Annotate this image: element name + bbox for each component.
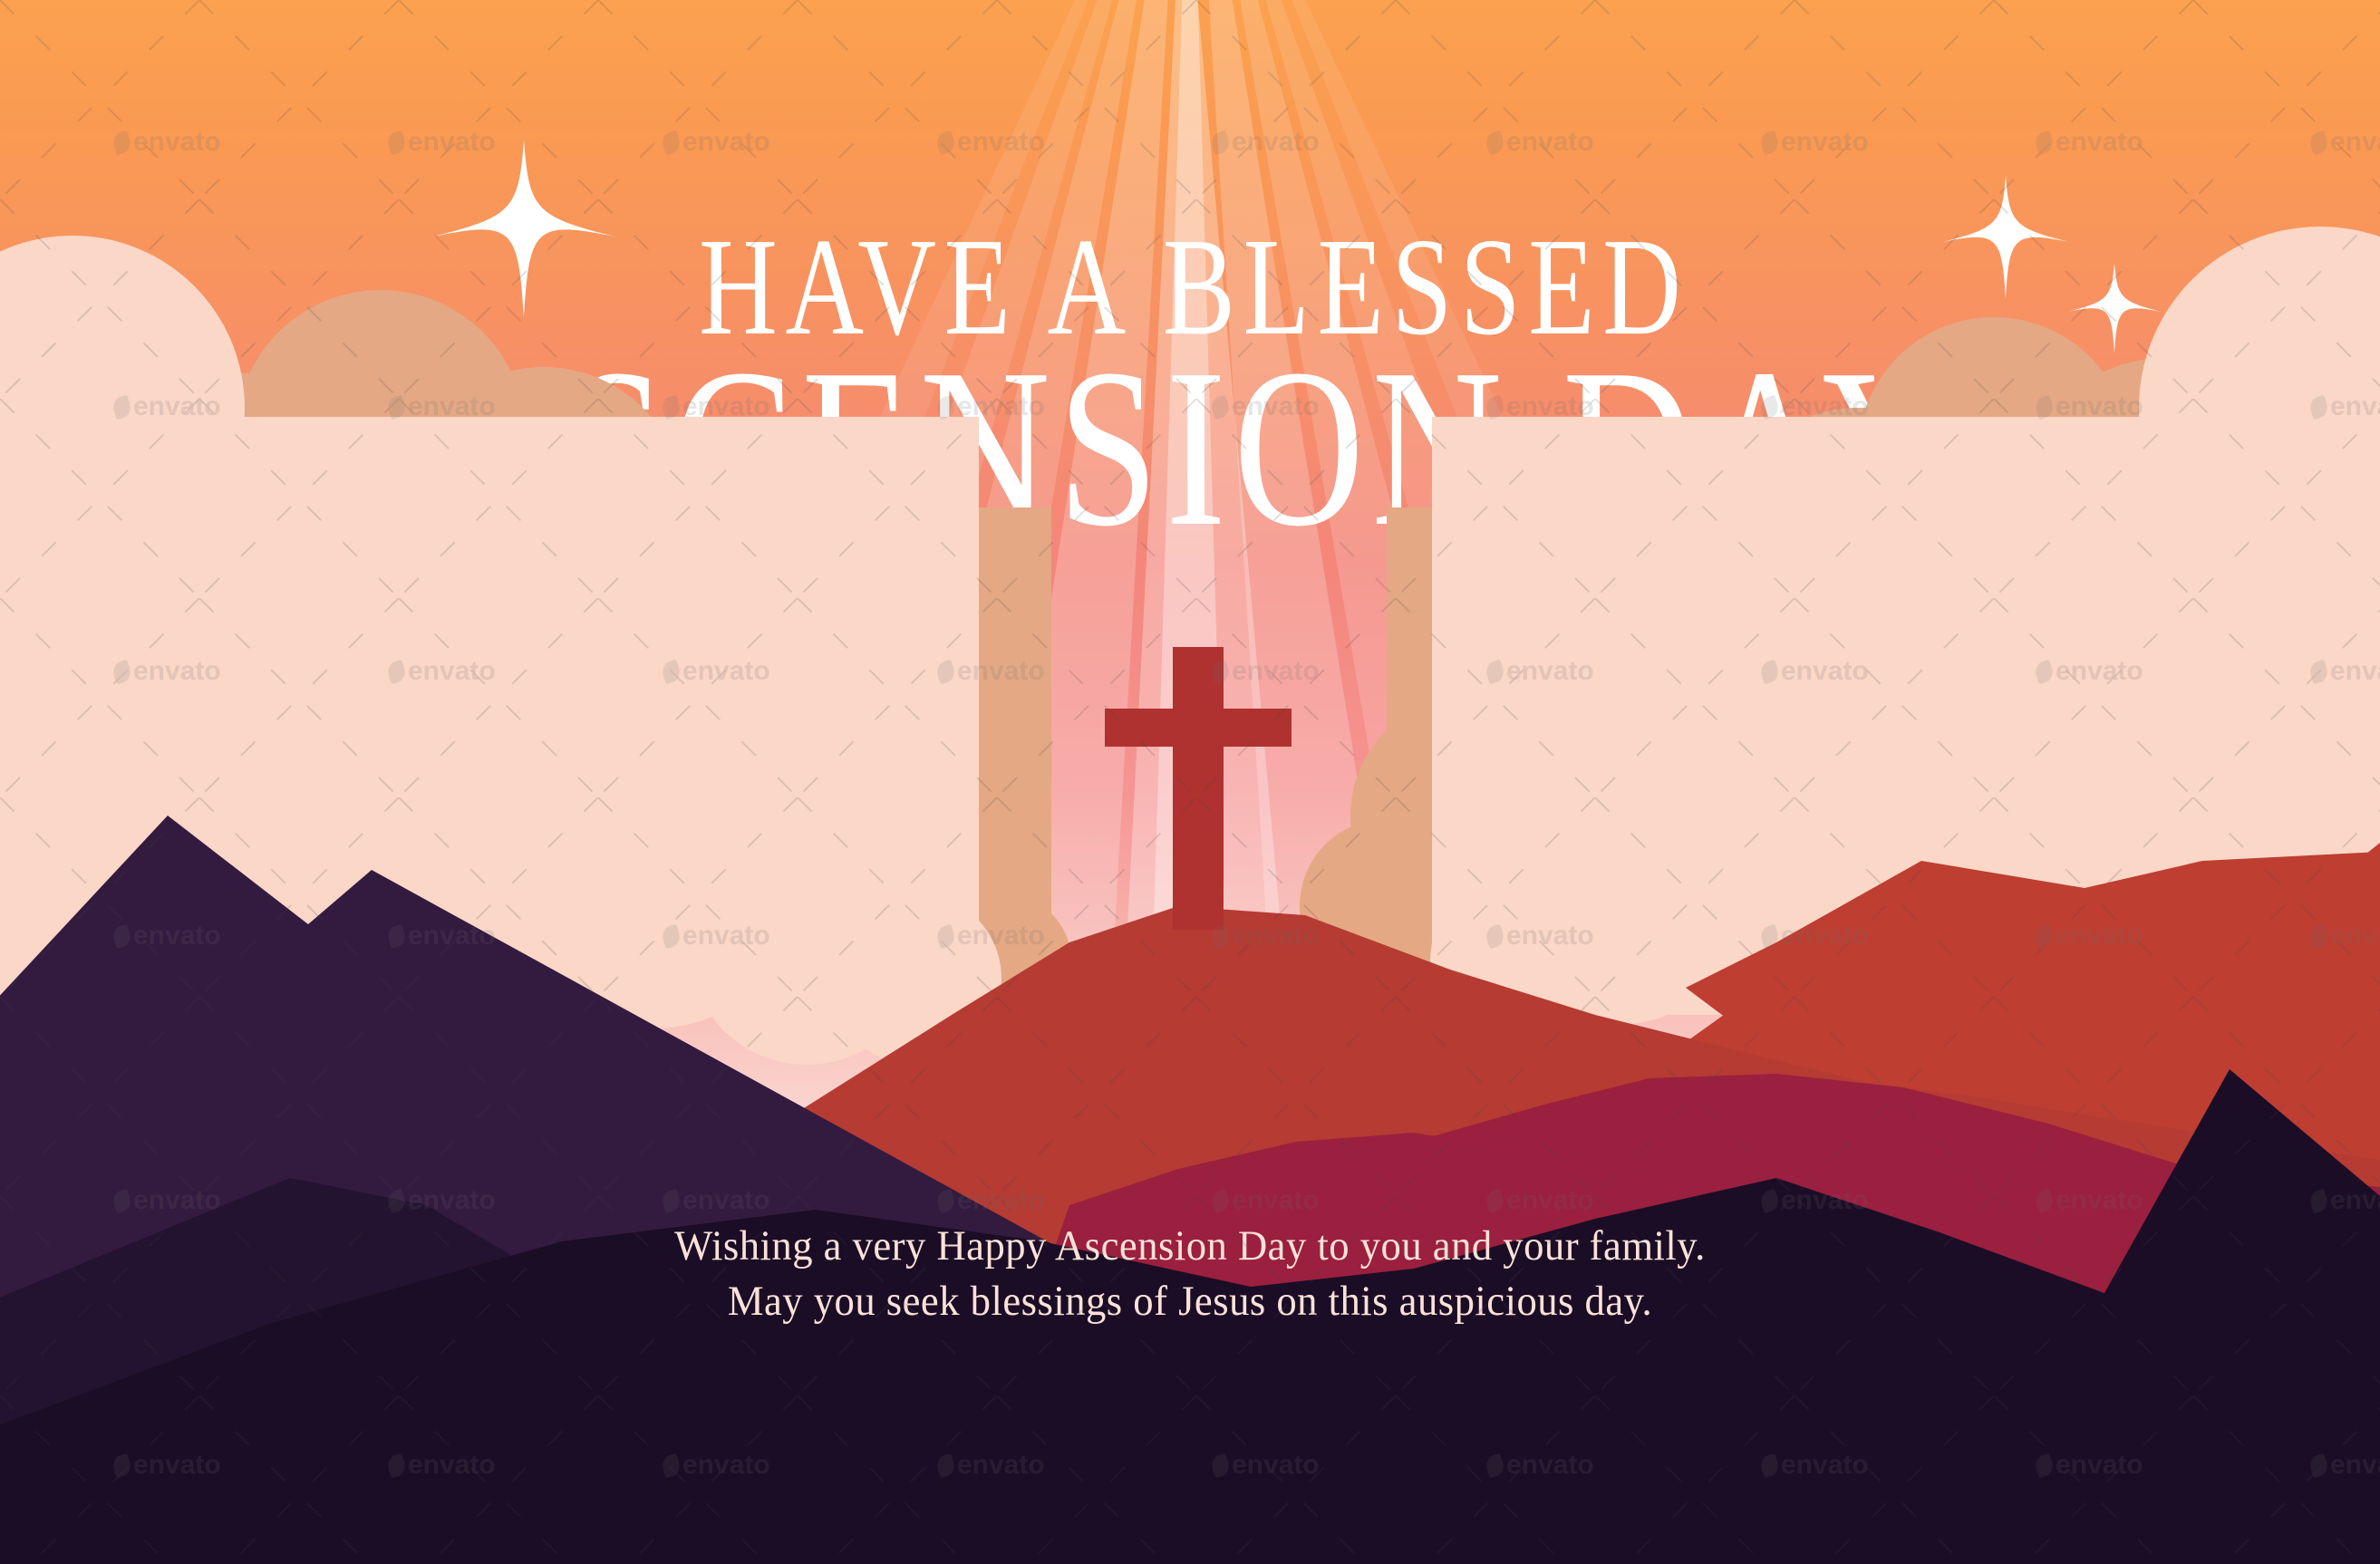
ascension-day-poster: HAVE A BLESSED ASCENSION DAY <box>0 0 2380 1564</box>
message-line-2: May you seek blessings of Jesus on this … <box>60 1274 2321 1329</box>
message-line-1: Wishing a very Happy Ascension Day to yo… <box>60 1219 2321 1274</box>
greeting-message: Wishing a very Happy Ascension Day to yo… <box>60 1219 2321 1329</box>
